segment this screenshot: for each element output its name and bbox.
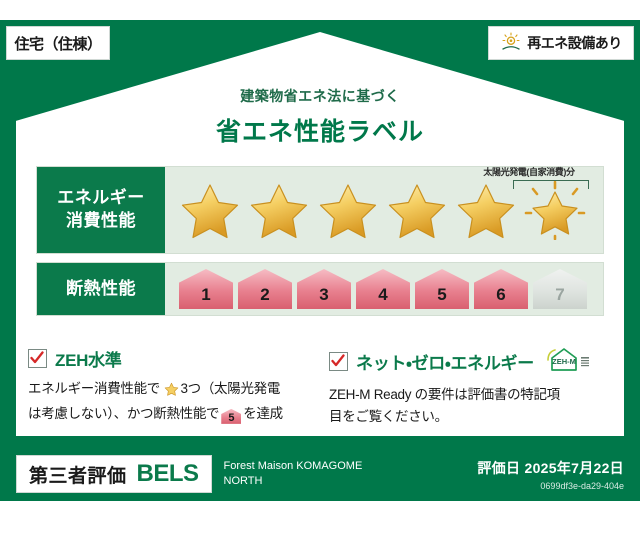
zeh-body-part2: は考慮しない）、かつ断熱性能で <box>28 406 219 421</box>
star-filled <box>386 180 448 240</box>
zeh-standard-section: ZEH水準 エネルギー消費性能で 3つ（太陽光発電 は考慮しない）、かつ断熱性能… <box>28 346 311 428</box>
record-id: 0699df3e-da29-404e <box>477 481 624 491</box>
insulation-performance-row: 断熱性能 1 2 3 4 5 6 7 <box>36 262 604 316</box>
title-subtitle: 建築物省エネ法に基づく <box>0 86 640 106</box>
check-icon <box>329 352 348 371</box>
zeh-body-stars: 3つ（太陽光発電 <box>180 381 280 396</box>
solar-bracket <box>513 180 589 189</box>
renewable-equipment-label: 再エネ設備あり <box>527 33 622 53</box>
check-icon <box>28 349 47 368</box>
insulation-grades-area: 1 2 3 4 5 6 7 <box>165 263 603 315</box>
energy-performance-row: エネルギー 消費性能 太陽光発電(自家消費)分 <box>36 166 604 254</box>
evaluation-date: 評価日 2025年7月22日 <box>477 458 624 478</box>
solar-self-consumption-note: 太陽光発電(自家消費)分 <box>463 165 595 178</box>
net-zero-energy-section: ネット・ゼロ・エネルギー ZEH-M <box>329 346 612 428</box>
zeh-standard-body: エネルギー消費性能で 3つ（太陽光発電 は考慮しない）、かつ断熱性能で5を達成 <box>28 378 311 425</box>
insulation-grade: 1 <box>179 269 233 309</box>
nze-body-part2: 目をご覧ください。 <box>329 409 448 424</box>
zeh-standard-header: ZEH水準 <box>28 346 311 371</box>
energy-performance-label: エネルギー 消費性能 <box>37 167 165 253</box>
net-zero-energy-header: ネット・ゼロ・エネルギー ZEH-M <box>329 346 612 377</box>
insulation-grade: 2 <box>238 269 292 309</box>
renewable-equipment-badge: 再エネ設備あり <box>488 26 634 60</box>
bels-certification-mark: 第三者評価 BELS <box>16 455 212 493</box>
evaluation-date-value: 2025年7月22日 <box>524 460 624 476</box>
energy-label-line1: エネルギー <box>57 187 145 210</box>
insulation-grade: 3 <box>297 269 351 309</box>
nze-body-part1: ZEH-M Ready の要件は評価書の特記項 <box>329 387 560 402</box>
net-zero-energy-body: ZEH-M Ready の要件は評価書の特記項 目をご覧ください。 <box>329 384 612 428</box>
zeh-body-part1: エネルギー消費性能で <box>28 381 160 396</box>
title-main: 省エネ性能ラベル <box>0 112 640 148</box>
insulation-grade: 5 <box>415 269 469 309</box>
sun-icon <box>500 32 522 55</box>
evaluation-date-label: 評価日 <box>477 460 520 476</box>
criteria-sections: ZEH水準 エネルギー消費性能で 3つ（太陽光発電 は考慮しない）、かつ断熱性能… <box>28 346 612 428</box>
energy-performance-label: 住宅（住棟） 再エネ設備あり 建築物省エネ法に基づく 省エネ性能ラベル <box>0 0 640 501</box>
building-name-line2: NORTH <box>224 474 363 489</box>
insulation-performance-label: 断熱性能 <box>37 263 165 315</box>
net-zero-energy-title: ネット・ゼロ・エネルギー <box>356 349 534 374</box>
label-footer: 第三者評価 BELS Forest Maison KOMAGOME NORTH … <box>0 447 640 501</box>
insulation-grade-inactive: 7 <box>533 269 587 309</box>
star-rating-list <box>179 180 586 240</box>
bels-logo-text: BELS <box>137 460 199 488</box>
rating-rows: エネルギー 消費性能 太陽光発電(自家消費)分 <box>36 166 604 324</box>
energy-label-line2: 消費性能 <box>66 210 136 233</box>
svg-text:ZEH-M: ZEH-M <box>552 357 576 366</box>
star-filled <box>455 180 517 240</box>
label-title: 建築物省エネ法に基づく 省エネ性能ラベル <box>0 86 640 148</box>
third-party-evaluation-label: 第三者評価 <box>29 461 127 488</box>
star-filled <box>179 180 241 240</box>
star-filled <box>317 180 379 240</box>
inline-grade-badge: 5 <box>221 409 241 424</box>
zeh-m-logo-icon: ZEH-M <box>544 346 592 377</box>
building-name: Forest Maison KOMAGOME NORTH <box>224 459 363 490</box>
dwelling-type-label: 住宅（住棟） <box>14 33 101 54</box>
star-solar-sparkle <box>524 180 586 240</box>
evaluation-date-block: 評価日 2025年7月22日 0699df3e-da29-404e <box>477 458 624 491</box>
zeh-body-part3: を達成 <box>243 406 283 421</box>
insulation-grade: 6 <box>474 269 528 309</box>
energy-stars-area: 太陽光発電(自家消費)分 <box>165 167 603 253</box>
insulation-grade-list: 1 2 3 4 5 6 7 <box>179 269 587 309</box>
zeh-standard-title: ZEH水準 <box>55 346 122 371</box>
inline-star-icon <box>161 384 179 399</box>
building-name-line1: Forest Maison KOMAGOME <box>224 459 363 474</box>
dwelling-type-badge: 住宅（住棟） <box>6 26 110 60</box>
insulation-grade: 4 <box>356 269 410 309</box>
star-filled <box>248 180 310 240</box>
